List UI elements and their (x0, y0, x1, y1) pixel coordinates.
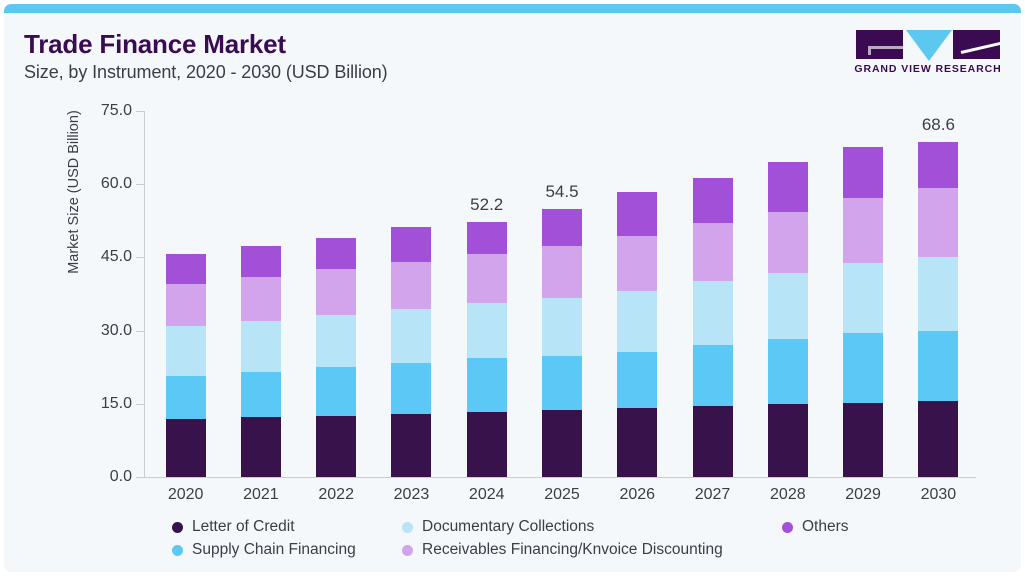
logo-letter-g-icon (856, 30, 903, 59)
bar-segment[interactable] (316, 238, 356, 269)
plot-area: 52.254.568.6 (144, 111, 972, 477)
stacked-bar[interactable] (166, 254, 206, 477)
bar-value-label: 54.5 (535, 182, 589, 202)
legend-color-dot-icon (402, 522, 413, 533)
stacked-bar[interactable] (843, 147, 883, 477)
bar-segment[interactable] (241, 321, 281, 372)
bar-segment[interactable] (467, 222, 507, 253)
logo-wordmark: GRAND VIEW RESEARCH (853, 63, 1003, 75)
bar-value-label: 68.6 (911, 115, 965, 135)
y-axis-tick-mark (136, 184, 144, 185)
x-axis-tick-label: 2029 (836, 486, 890, 504)
bar-segment[interactable] (241, 417, 281, 477)
bar-segment[interactable] (241, 277, 281, 321)
bar-value-label: 52.2 (460, 195, 514, 215)
bar-segment[interactable] (316, 416, 356, 477)
legend-item[interactable]: Letter of Credit (172, 518, 295, 536)
bar-segment[interactable] (768, 212, 808, 273)
chart-legend: Letter of CreditSupply Chain FinancingDo… (172, 518, 1012, 568)
y-axis-tick-label: 60.0 (70, 175, 132, 193)
bar-segment[interactable] (843, 147, 883, 198)
bar-segment[interactable] (617, 291, 657, 352)
bar-segment[interactable] (768, 339, 808, 404)
bar-segment[interactable] (843, 263, 883, 333)
bar-segment[interactable] (166, 254, 206, 284)
bar-segment[interactable] (166, 419, 206, 477)
bar-segment[interactable] (542, 209, 582, 247)
y-axis-tick-label: 75.0 (70, 102, 132, 120)
bar-segment[interactable] (542, 246, 582, 298)
bar-segment[interactable] (391, 227, 431, 262)
y-axis-tick-mark (136, 331, 144, 332)
stacked-bar[interactable] (391, 227, 431, 477)
legend-label: Others (802, 518, 849, 536)
legend-item[interactable]: Receivables Financing/Knvoice Discountin… (402, 541, 723, 559)
bar-segment[interactable] (542, 298, 582, 355)
stacked-bar[interactable] (617, 192, 657, 477)
bar-segment[interactable] (617, 192, 657, 236)
x-axis-tick-label: 2027 (686, 486, 740, 504)
grand-view-research-logo: GRAND VIEW RESEARCH (853, 30, 1003, 78)
bar-segment[interactable] (918, 331, 958, 401)
bar-segment[interactable] (391, 414, 431, 477)
legend-color-dot-icon (402, 545, 413, 556)
bar-segment[interactable] (843, 333, 883, 403)
bar-segment[interactable] (166, 376, 206, 419)
y-axis-tick-label: 45.0 (70, 248, 132, 266)
bar-segment[interactable] (617, 352, 657, 408)
legend-color-dot-icon (782, 522, 793, 533)
x-axis-tick-label: 2023 (384, 486, 438, 504)
page-title: Trade Finance Market (24, 29, 286, 60)
legend-label: Documentary Collections (422, 518, 594, 536)
legend-label: Receivables Financing/Knvoice Discountin… (422, 541, 723, 559)
stacked-bar[interactable] (693, 178, 733, 477)
stacked-bar[interactable] (768, 162, 808, 477)
bar-segment[interactable] (693, 281, 733, 344)
legend-label: Letter of Credit (192, 518, 295, 536)
bar-segment[interactable] (843, 403, 883, 477)
stacked-bar[interactable] (542, 209, 582, 477)
bar-segment[interactable] (166, 284, 206, 326)
bar-segment[interactable] (166, 326, 206, 375)
bar-segment[interactable] (391, 363, 431, 414)
y-axis-tick-mark (136, 404, 144, 405)
y-axis-tick-mark (136, 111, 144, 112)
x-axis-tick-label: 2020 (159, 486, 213, 504)
legend-color-dot-icon (172, 545, 183, 556)
bar-segment[interactable] (918, 188, 958, 257)
bar-segment[interactable] (617, 408, 657, 477)
logo-letter-r-icon (953, 30, 1000, 59)
y-axis-tick-label: 15.0 (70, 395, 132, 413)
bar-segment[interactable] (918, 257, 958, 331)
accent-top-bar (4, 4, 1021, 13)
bar-segment[interactable] (693, 178, 733, 223)
bar-segment[interactable] (467, 254, 507, 304)
x-axis-tick-label: 2028 (761, 486, 815, 504)
legend-item[interactable]: Documentary Collections (402, 518, 594, 536)
bar-segment[interactable] (391, 262, 431, 309)
bar-segment[interactable] (768, 404, 808, 477)
bar-segment[interactable] (768, 162, 808, 211)
x-axis-tick-label: 2022 (309, 486, 363, 504)
bar-segment[interactable] (542, 356, 582, 410)
bar-segment[interactable] (617, 236, 657, 291)
bar-segment[interactable] (467, 358, 507, 412)
y-axis-tick-mark (136, 477, 144, 478)
y-axis-tick-label: 30.0 (70, 322, 132, 340)
x-axis-tick-label: 2025 (535, 486, 589, 504)
bar-segment[interactable] (316, 315, 356, 367)
x-axis-tick-label: 2026 (610, 486, 664, 504)
stacked-bar[interactable] (241, 246, 281, 477)
x-axis-tick-label: 2030 (911, 486, 965, 504)
bar-segment[interactable] (693, 345, 733, 406)
stacked-bar[interactable] (918, 142, 958, 477)
bar-segment[interactable] (467, 303, 507, 358)
bar-segment[interactable] (542, 410, 582, 477)
bar-segment[interactable] (693, 406, 733, 477)
stacked-bar[interactable] (316, 238, 356, 477)
legend-item[interactable]: Others (782, 518, 849, 536)
bar-segment[interactable] (241, 372, 281, 417)
legend-item[interactable]: Supply Chain Financing (172, 541, 356, 559)
bar-segment[interactable] (918, 142, 958, 188)
bar-segment[interactable] (316, 367, 356, 415)
bar-segment[interactable] (843, 198, 883, 262)
bar-segment[interactable] (918, 401, 958, 477)
y-axis-tick-mark (136, 257, 144, 258)
logo-marks (853, 30, 1003, 60)
bar-segment[interactable] (391, 309, 431, 363)
bar-segment[interactable] (241, 246, 281, 277)
bar-segment[interactable] (693, 223, 733, 281)
chart-page: Trade Finance Market Size, by Instrument… (0, 0, 1025, 576)
x-axis-tick-label: 2024 (460, 486, 514, 504)
bar-segment[interactable] (316, 269, 356, 315)
logo-letter-v-triangle-icon (906, 30, 952, 61)
legend-label: Supply Chain Financing (192, 541, 356, 559)
chart-card: Trade Finance Market Size, by Instrument… (4, 4, 1021, 572)
x-axis-tick-label: 2021 (234, 486, 288, 504)
bar-segment[interactable] (768, 273, 808, 340)
legend-color-dot-icon (172, 522, 183, 533)
bar-segment[interactable] (467, 412, 507, 477)
x-axis-line (144, 477, 976, 478)
y-axis-tick-label: 0.0 (70, 468, 132, 486)
stacked-bar[interactable] (467, 222, 507, 477)
